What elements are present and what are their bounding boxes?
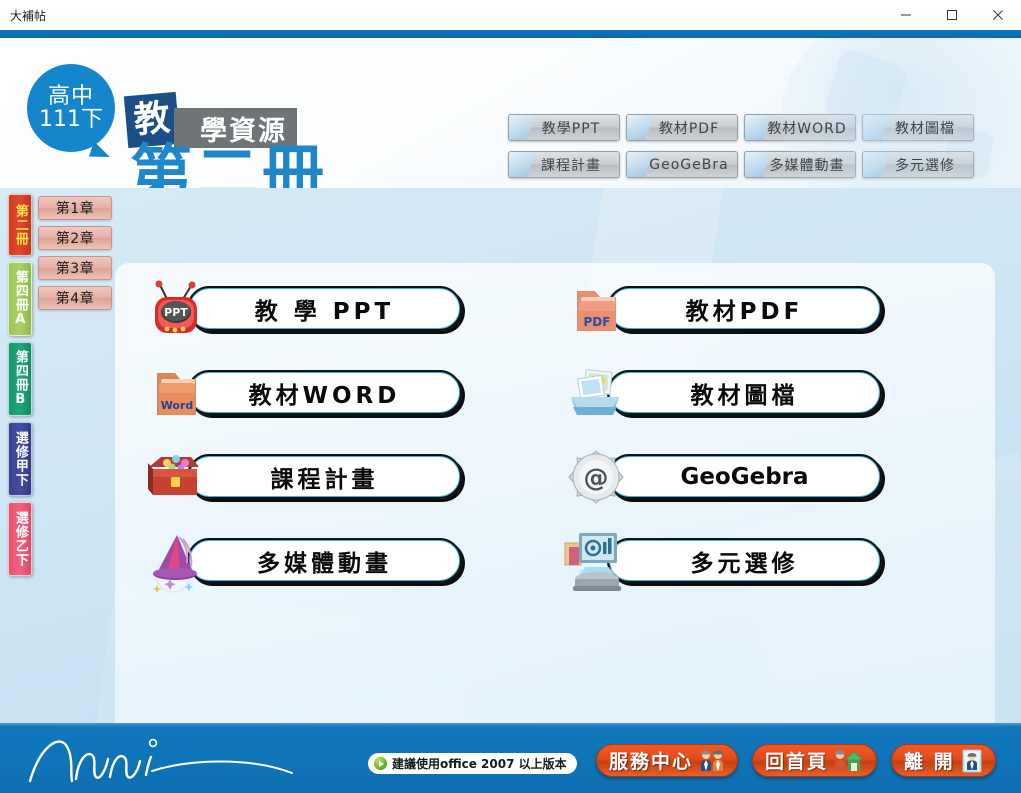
window-title: 大補帖 <box>10 7 46 24</box>
main-panel: 教 學 PPT PPT <box>115 263 995 723</box>
nav-button-label: 課程計畫 <box>527 155 601 175</box>
gear-at-icon: @ <box>563 445 629 511</box>
tile-pill: 課程計畫 <box>187 454 462 499</box>
nav-button-label: 教材圖檔 <box>881 118 955 138</box>
nav-button-label: 教學PPT <box>528 118 600 138</box>
header-nav: 教學PPT 教材PDF 教材WORD 教材圖檔 課程計畫 GeoGeBra 多媒… <box>508 114 980 178</box>
tile-label: GeoGebra <box>680 464 808 490</box>
sidebar-item-elective-b[interactable]: 選修乙下 <box>8 502 32 576</box>
service-people-icon <box>699 749 725 773</box>
tile-pill: GeoGebra <box>607 454 882 499</box>
ppt-tv-icon: PPT <box>143 277 209 343</box>
tile-geogebra[interactable]: GeoGebra <box>555 443 975 527</box>
footer-buttons: 服務中心 回首頁 離 開 <box>596 744 996 777</box>
sidebar-volume-tabs: 第二冊 第四冊A 第四冊B 選修甲下 選修乙下 <box>8 194 34 582</box>
grade-badge-line2: 111下 <box>39 108 103 131</box>
close-button[interactable] <box>975 0 1021 30</box>
svg-text:PPT: PPT <box>164 306 188 319</box>
image-tray-icon <box>563 361 629 427</box>
window-controls <box>883 0 1021 30</box>
tile-label: 多媒體動畫 <box>257 544 392 578</box>
tile-label: 教材PDF <box>686 292 804 326</box>
nav-button-multimedia[interactable]: 多媒體動畫 <box>744 151 856 178</box>
tile-teaching-ppt[interactable]: 教 學 PPT PPT <box>135 275 555 359</box>
nav-button-material-images[interactable]: 教材圖檔 <box>862 114 974 141</box>
nani-logo <box>20 729 320 787</box>
sidebar-item-volume-4b[interactable]: 第四冊B <box>8 342 32 416</box>
magic-hat-icon <box>143 529 209 595</box>
treasure-box-icon <box>143 445 209 511</box>
grade-badge-line1: 高中 <box>48 85 94 108</box>
tile-label: 多元選修 <box>691 544 799 578</box>
monitor-hologram-icon <box>559 523 633 597</box>
home-icon <box>834 749 864 773</box>
sidebar-item-volume-4a[interactable]: 第四冊A <box>8 262 32 336</box>
tile-pill: 教 學 PPT <box>187 286 462 331</box>
tile-material-images[interactable]: 教材圖檔 <box>555 359 975 443</box>
nav-button-label: 多媒體動畫 <box>756 155 845 175</box>
exit-button[interactable]: 離 開 <box>891 744 996 777</box>
maximize-icon <box>946 9 958 21</box>
page-header: 高中 111下 教 學資源 第二冊 教學PPT 教材PDF 教材WORD 教材圖… <box>0 38 1021 188</box>
nav-button-label: GeoGeBra <box>635 157 728 173</box>
content-area: 第二冊 第四冊A 第四冊B 選修甲下 選修乙下 第1章 第2章 第3章 第4章 … <box>0 188 1021 723</box>
grade-badge: 高中 111下 <box>27 64 115 152</box>
tile-material-pdf[interactable]: 教材PDF PDF <box>555 275 975 359</box>
tile-pill: 教材PDF <box>607 286 882 331</box>
tile-pill: 教材WORD <box>187 370 462 415</box>
nav-button-material-word[interactable]: 教材WORD <box>744 114 856 141</box>
pdf-folder-icon: PDF <box>563 277 629 343</box>
tile-label: 課程計畫 <box>271 460 379 494</box>
office-version-note: 建議使用office 2007 以上版本 <box>368 753 577 774</box>
minimize-icon <box>900 9 912 21</box>
exit-label: 離 開 <box>904 747 955 774</box>
application-window: 大補帖 高 <box>0 0 1021 793</box>
play-icon <box>374 757 387 770</box>
page-title: 第二冊 <box>130 143 328 188</box>
footer-fade <box>0 723 1021 727</box>
tile-label: 教 學 PPT <box>255 292 394 326</box>
nav-button-course-plan[interactable]: 課程計畫 <box>508 151 620 178</box>
top-accent-rule <box>0 30 1021 38</box>
title-bar: 大補帖 <box>0 0 1021 30</box>
office-version-text: 建議使用office 2007 以上版本 <box>392 755 567 772</box>
nav-button-teaching-ppt[interactable]: 教學PPT <box>508 114 620 141</box>
tile-course-plan[interactable]: 課程計畫 <box>135 443 555 527</box>
nav-button-label: 多元選修 <box>881 155 955 175</box>
svg-text:Word: Word <box>161 399 194 412</box>
nav-button-material-pdf[interactable]: 教材PDF <box>626 114 738 141</box>
teaching-mark-char: 教 <box>132 100 171 139</box>
tile-label: 教材圖檔 <box>691 376 799 410</box>
chapter-button-2[interactable]: 第2章 <box>38 226 112 250</box>
tile-pill: 多元選修 <box>607 538 882 583</box>
exit-door-icon <box>961 749 983 773</box>
chapter-button-4[interactable]: 第4章 <box>38 286 112 310</box>
tile-multimedia[interactable]: 多媒體動畫 <box>135 527 555 611</box>
sidebar-item-elective-a[interactable]: 選修甲下 <box>8 422 32 496</box>
service-center-button[interactable]: 服務中心 <box>596 744 738 777</box>
maximize-button[interactable] <box>929 0 975 30</box>
tile-grid: 教 學 PPT PPT <box>115 263 995 723</box>
nav-button-electives[interactable]: 多元選修 <box>862 151 974 178</box>
chapter-button-3[interactable]: 第3章 <box>38 256 112 280</box>
tile-pill: 教材圖檔 <box>607 370 882 415</box>
tile-material-word[interactable]: 教材WORD Word <box>135 359 555 443</box>
nav-button-label: 教材WORD <box>753 118 846 138</box>
word-folder-icon: Word <box>143 361 209 427</box>
home-label: 回首頁 <box>765 747 828 774</box>
brand-logo: 高中 111下 教 學資源 第二冊 <box>22 46 442 186</box>
chapter-button-1[interactable]: 第1章 <box>38 196 112 220</box>
svg-text:@: @ <box>584 463 609 492</box>
service-center-label: 服務中心 <box>609 747 693 774</box>
chapter-list: 第1章 第2章 第3章 第4章 <box>38 196 118 316</box>
sidebar-item-volume-2[interactable]: 第二冊 <box>8 194 32 256</box>
nav-button-label: 教材PDF <box>645 118 719 138</box>
nav-button-geogebra[interactable]: GeoGeBra <box>626 151 738 178</box>
close-icon <box>992 9 1004 21</box>
tile-label: 教材WORD <box>249 376 401 410</box>
home-button[interactable]: 回首頁 <box>752 744 877 777</box>
svg-text:PDF: PDF <box>584 315 611 329</box>
tile-electives[interactable]: 多元選修 <box>555 527 975 611</box>
tile-pill: 多媒體動畫 <box>187 538 462 583</box>
minimize-button[interactable] <box>883 0 929 30</box>
